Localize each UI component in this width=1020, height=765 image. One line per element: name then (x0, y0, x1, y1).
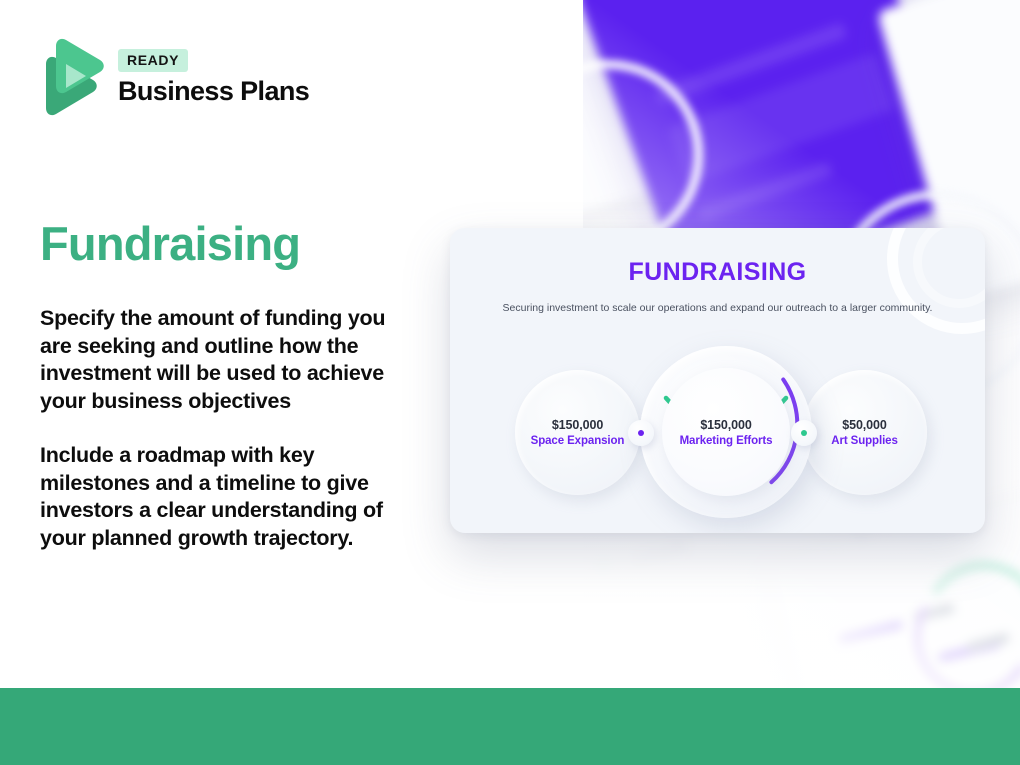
node-amount: $150,000 (552, 418, 603, 432)
ready-badge: READY (118, 49, 188, 72)
green-dot-icon (801, 430, 807, 436)
purple-dot-icon (638, 430, 644, 436)
connector-dot-left (628, 420, 654, 446)
funding-node-space-expansion[interactable]: $150,000 Space Expansion (515, 370, 640, 495)
node-amount: $150,000 (700, 418, 751, 432)
node-label: Space Expansion (531, 435, 625, 447)
body-copy: Specify the amount of funding you are se… (40, 305, 420, 552)
body-paragraph-1: Specify the amount of funding you are se… (40, 305, 420, 415)
brand-name: Business Plans (118, 76, 309, 107)
funding-node-marketing-efforts[interactable]: $150,000 Marketing Efforts (640, 346, 812, 518)
node-amount: $50,000 (842, 418, 887, 432)
play-triangle-logo-icon (40, 38, 104, 118)
footer-bar (0, 688, 1020, 765)
brand-text-block: READY Business Plans (118, 49, 309, 107)
body-paragraph-2: Include a roadmap with key milestones an… (40, 442, 420, 552)
brand-logo-block: READY Business Plans (40, 38, 309, 118)
funding-node-art-supplies[interactable]: $50,000 Art Supplies (802, 370, 927, 495)
node-inner-circle: $150,000 Marketing Efforts (662, 368, 790, 496)
node-label: Marketing Efforts (680, 435, 773, 447)
slide-preview-card[interactable]: FUNDRAISING Securing investment to scale… (450, 228, 985, 533)
connector-dot-right (791, 420, 817, 446)
node-label: Art Supplies (831, 435, 898, 447)
page-title: Fundraising (40, 216, 300, 271)
funding-node-diagram: $150,000 Space Expansion $50,000 Art Sup… (450, 228, 985, 533)
